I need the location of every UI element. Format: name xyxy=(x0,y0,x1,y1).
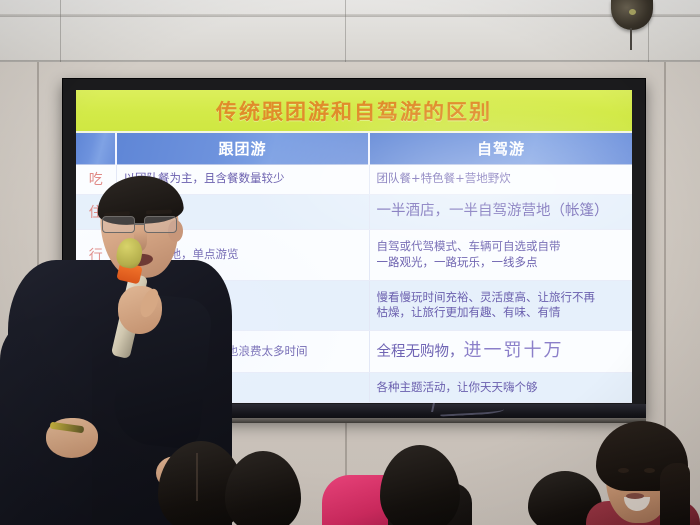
audience-front-right-eye xyxy=(644,468,655,473)
row-4-self-drive-accent: 进一罚十万 xyxy=(464,340,564,361)
dome-stem xyxy=(630,28,632,50)
ceiling-dome-speaker-icon xyxy=(611,0,653,30)
row-3-self-drive-line1: 慢看慢玩时间充裕、灵活度高、让旅行不再 xyxy=(377,290,626,306)
ceiling xyxy=(0,0,700,68)
row-5-self-drive: 各种主题活动，让你天天嗨个够 xyxy=(369,372,632,402)
glasses-bridge xyxy=(135,223,144,225)
slide-title: 传统跟团游和自驾游的区别 xyxy=(216,96,492,126)
row-4-self-drive-text: 全程无购物， xyxy=(377,344,464,360)
column-header-label xyxy=(76,133,116,164)
lecture-room-scene: 传统跟团游和自驾游的区别 跟团游 自驾游 xyxy=(0,0,700,525)
audience-member-head xyxy=(380,445,460,525)
row-1-self-drive: 一半酒店，一半自驾游营地（帐篷） xyxy=(369,194,632,229)
ceiling-panel-seam xyxy=(345,0,346,68)
glasses-lens xyxy=(102,216,135,233)
table-header: 跟团游 自驾游 xyxy=(76,133,632,164)
row-2-self-drive: 自驾或代驾模式、车辆可自选或自带 一路观光，一路玩乐，一线多点 xyxy=(369,229,632,280)
row-2-self-drive-line2: 一路观光，一路玩乐，一线多点 xyxy=(377,255,626,271)
row-2-self-drive-line1: 自驾或代驾模式、车辆可自选或自带 xyxy=(377,239,626,255)
glasses-lens xyxy=(144,216,177,233)
row-0-self-drive: 团队餐+特色餐+营地野炊 xyxy=(369,164,632,194)
column-header-group-tour: 跟团游 xyxy=(116,133,369,164)
ceiling-rail xyxy=(0,14,700,17)
slide-title-bar: 传统跟团游和自驾游的区别 xyxy=(76,90,632,133)
audience-front-right-mouth xyxy=(626,493,644,499)
dome-indicator-icon xyxy=(629,9,636,15)
column-header-self-drive: 自驾游 xyxy=(369,133,632,164)
audience-front-right-eye xyxy=(618,468,629,473)
row-4-self-drive: 全程无购物，进一罚十万 xyxy=(369,331,632,373)
audience-member-head xyxy=(225,451,301,525)
table-header-row: 跟团游 自驾游 xyxy=(76,133,632,164)
ceiling-panel-seam xyxy=(60,0,61,68)
audience-front-right-hair-side xyxy=(660,463,690,525)
audience-hair-part xyxy=(196,453,198,501)
audience xyxy=(0,418,700,525)
bezel-scuff-mark xyxy=(431,403,449,412)
row-3-self-drive-line2: 枯燥，让旅行更加有趣、有味、有情 xyxy=(377,305,626,321)
row-3-self-drive: 慢看慢玩时间充裕、灵活度高、让旅行不再 枯燥，让旅行更加有趣、有味、有情 xyxy=(369,280,632,331)
